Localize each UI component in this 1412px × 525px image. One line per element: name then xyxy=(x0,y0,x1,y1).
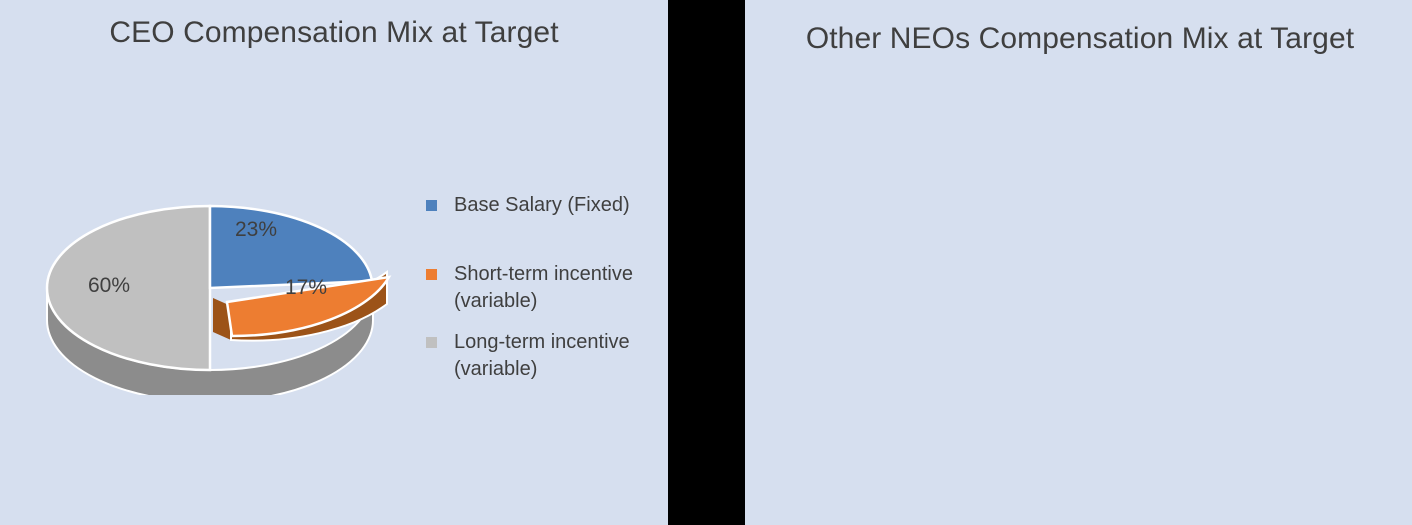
legend-swatch-blue-icon xyxy=(426,200,437,211)
legend-item-base-salary[interactable]: Base Salary (Fixed) xyxy=(426,192,656,219)
neo-chart-title: Other NEOs Compensation Mix at Target xyxy=(805,18,1355,60)
ceo-legend: Base Salary (Fixed) Short-term incentive… xyxy=(426,192,656,425)
legend-item-long-term[interactable]: Long-term incentive (variable) xyxy=(426,329,656,383)
ceo-pie-svg xyxy=(35,180,405,395)
legend-label-short-term: Short-term incentive (variable) xyxy=(454,261,656,315)
legend-swatch-orange-icon xyxy=(426,269,437,280)
ceo-chart-panel: CEO Compensation Mix at Target 23% xyxy=(0,0,668,525)
blue-slice-top xyxy=(210,206,372,288)
legend-label-base-salary: Base Salary (Fixed) xyxy=(454,192,630,219)
ceo-chart-title: CEO Compensation Mix at Target xyxy=(34,12,634,54)
neo-chart-panel: Other NEOs Compensation Mix at Target 40… xyxy=(745,0,1412,525)
slide-canvas: CEO Compensation Mix at Target 23% xyxy=(0,0,1412,525)
panel-divider xyxy=(668,0,745,525)
legend-item-short-term[interactable]: Short-term incentive (variable) xyxy=(426,261,656,315)
ceo-pie-chart: 23% 17% 60% xyxy=(35,180,405,400)
legend-swatch-gray-icon xyxy=(426,337,437,348)
legend-label-long-term: Long-term incentive (variable) xyxy=(454,329,656,383)
